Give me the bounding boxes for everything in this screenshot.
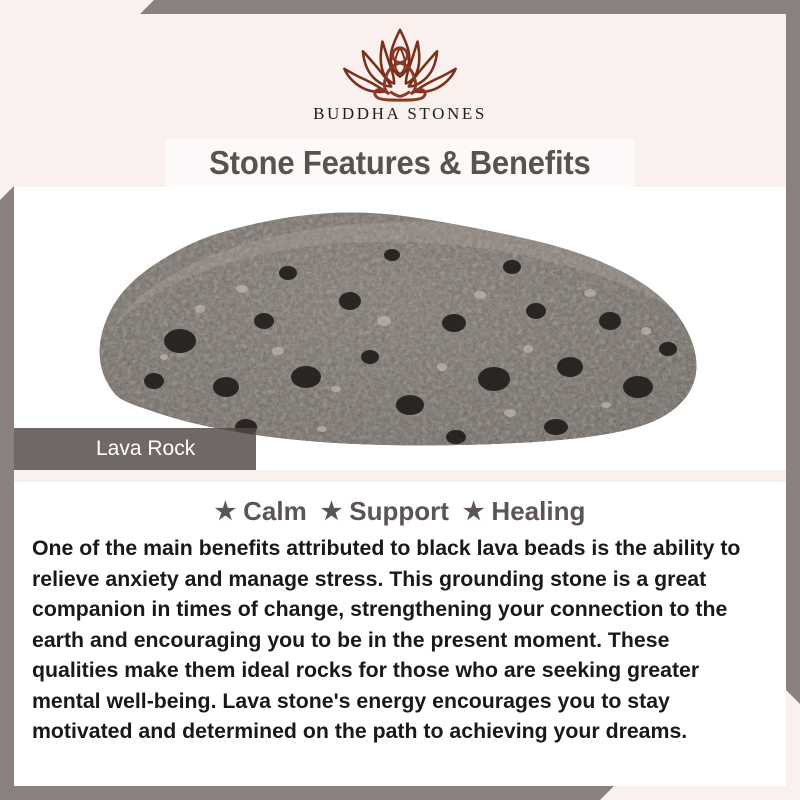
keyword-support: ★ Support (321, 496, 449, 527)
keyword-healing-label: Healing (491, 496, 585, 527)
benefits-section: ★ Calm ★ Support ★ Healing One of the ma… (14, 482, 786, 786)
stone-name-text: Lava Rock (14, 437, 195, 461)
star-icon: ★ (321, 500, 343, 524)
brand-header: BUDDHA STONES (14, 14, 786, 139)
benefits-paragraph: One of the main benefits attributed to b… (30, 533, 763, 747)
frame-band-left (0, 186, 14, 800)
keyword-calm: ★ Calm (215, 496, 307, 527)
frame-band-right (786, 0, 800, 704)
stone-photo-area: Lava Rock (14, 187, 786, 482)
infographic-page: BUDDHA STONES Stone Features & Benefits (0, 0, 800, 800)
keyword-support-label: Support (349, 496, 449, 527)
page-title: Stone Features & Benefits (209, 144, 590, 182)
title-banner: Stone Features & Benefits (14, 139, 786, 187)
keyword-calm-label: Calm (243, 496, 307, 527)
frame-band-top (140, 0, 800, 14)
title-panel: Stone Features & Benefits (165, 139, 635, 187)
lotus-meditation-figure-icon (326, 22, 474, 106)
photo-bottom-strip (14, 470, 786, 482)
stone-name-label: Lava Rock (14, 428, 256, 470)
frame-band-bottom (0, 786, 614, 800)
keyword-row: ★ Calm ★ Support ★ Healing (30, 496, 770, 527)
brand-wordmark: BUDDHA STONES (313, 104, 487, 124)
keyword-healing: ★ Healing (463, 496, 585, 527)
content-card: BUDDHA STONES Stone Features & Benefits (14, 14, 786, 786)
star-icon: ★ (463, 500, 485, 524)
star-icon: ★ (215, 500, 237, 524)
